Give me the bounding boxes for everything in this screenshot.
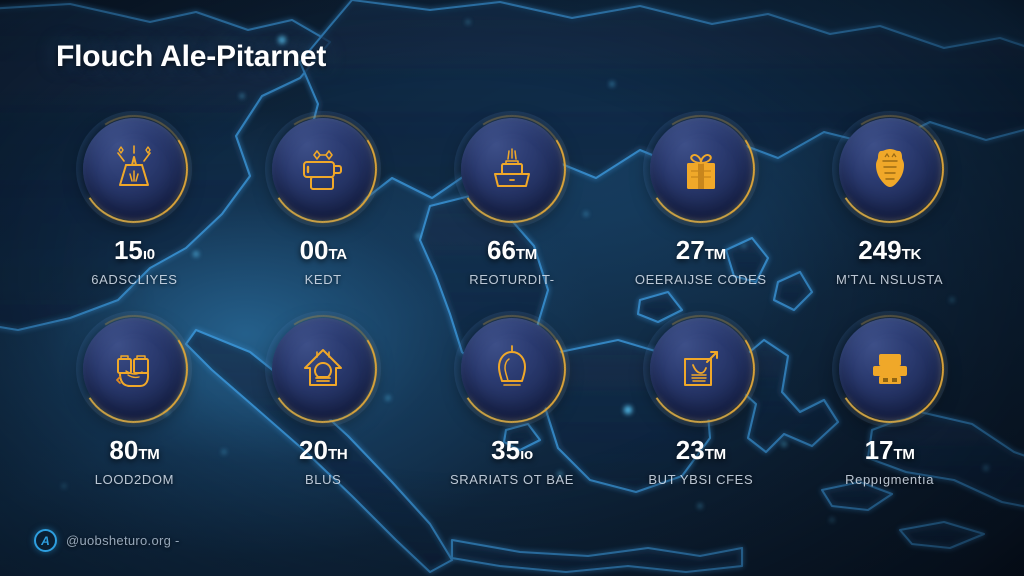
stat-label: SRARIATS OT BAE: [450, 472, 574, 487]
stat-icon-badge[interactable]: [272, 318, 374, 420]
stat-value: 249TK: [858, 237, 921, 263]
stat-label: 6ADSCLIYES: [91, 272, 177, 287]
stat-card[interactable]: 23TM BUT YBSI CFES: [606, 318, 795, 496]
stat-value: 15ı0: [114, 237, 155, 263]
stat-value: 66TM: [487, 237, 537, 263]
footer-url: @uobsheturo.org -: [66, 533, 180, 548]
hand-box-icon: [106, 341, 162, 397]
stat-value: 17TM: [865, 437, 915, 463]
stats-grid: 15ı0 6ADSCLIYES 00TA KEDT: [40, 118, 984, 496]
boat-icon: [484, 141, 540, 197]
volcano-icon: [106, 141, 162, 197]
stat-icon-badge[interactable]: [839, 118, 941, 220]
brand-logo-icon: A: [34, 529, 57, 552]
stat-value: 20TH: [299, 437, 347, 463]
stat-label: BUT YBSI CFES: [648, 472, 753, 487]
footer-watermark: A @uobsheturo.org -: [34, 529, 180, 552]
stat-value: 35ıo: [491, 437, 533, 463]
stat-label: KEDT: [305, 272, 342, 287]
stat-icon-badge[interactable]: [272, 118, 374, 220]
stat-card[interactable]: 00TA KEDT: [229, 118, 418, 296]
stat-card[interactable]: 80TM LOOD2DOM: [40, 318, 229, 496]
stat-card[interactable]: 66TM REOTURDIT-: [418, 118, 607, 296]
stat-card[interactable]: 35ıo SRARIATS OT BAE: [418, 318, 607, 496]
stat-card[interactable]: 249TK M'TΛL NSLUSTA: [795, 118, 984, 296]
house-icon: [295, 341, 351, 397]
gift-box-icon: [673, 141, 729, 197]
stat-icon-badge[interactable]: [650, 318, 752, 420]
stat-icon-badge[interactable]: [461, 318, 563, 420]
stat-value: 00TA: [300, 237, 347, 263]
stat-icon-badge[interactable]: [83, 118, 185, 220]
stat-label: BLUS: [305, 472, 341, 487]
stat-icon-badge[interactable]: [83, 318, 185, 420]
stat-card[interactable]: 17TM Reppıgmentıa: [795, 318, 984, 496]
lightbulb-icon: [484, 341, 540, 397]
stat-label: REOTURDIT-: [469, 272, 554, 287]
stat-value: 23TM: [676, 437, 726, 463]
stat-card[interactable]: 20TH BLUS: [229, 318, 418, 496]
stat-card[interactable]: 27TM OEERAIJSE CODES: [606, 118, 795, 296]
page-title: Flouch Ale-Pitarnet: [56, 40, 326, 74]
stat-label: Reppıgmentıa: [845, 472, 934, 487]
printer-icon: [862, 341, 918, 397]
stat-label: M'TΛL NSLUSTA: [836, 272, 943, 287]
stat-label: LOOD2DOM: [95, 472, 174, 487]
stat-label: OEERAIJSE CODES: [635, 272, 767, 287]
stat-card[interactable]: 15ı0 6ADSCLIYES: [40, 118, 229, 296]
stat-icon-badge[interactable]: [650, 118, 752, 220]
infographic-canvas: Flouch Ale-Pitarnet 15ı0 6ADSCLIYES: [0, 0, 1024, 576]
stat-icon-badge[interactable]: [461, 118, 563, 220]
shield-badge-icon: [862, 141, 918, 197]
stat-value: 27TM: [676, 237, 726, 263]
stat-icon-badge[interactable]: [839, 318, 941, 420]
stat-value: 80TM: [109, 437, 159, 463]
camera-icon: [295, 141, 351, 197]
shopping-bag-icon: [673, 341, 729, 397]
